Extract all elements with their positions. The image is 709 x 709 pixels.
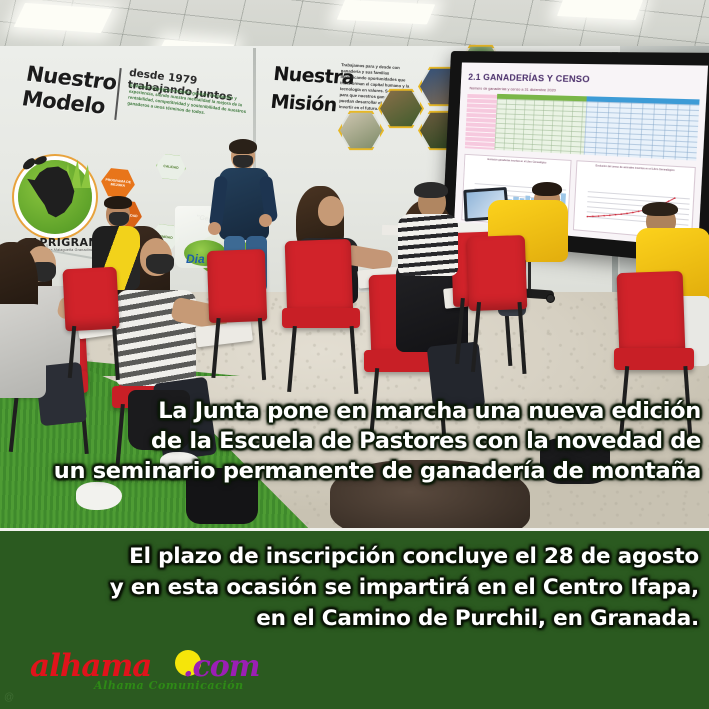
- news-poster: Nuestro Modelo desde 1979 trabajando jun…: [0, 0, 709, 709]
- attendee-torso: [0, 304, 46, 398]
- chair-back: [617, 271, 686, 357]
- presenter-hand-right: [259, 214, 272, 227]
- hex-photo-tile: [378, 88, 424, 129]
- attendee-hair: [104, 196, 132, 209]
- hex-photo-image: [380, 90, 422, 127]
- shoe: [76, 482, 122, 510]
- attendee-hair: [532, 182, 562, 196]
- headline-line-2: de la Escuela de Pastores con la novedad…: [0, 426, 701, 456]
- subheadline-line-2: y en esta ocasión se impartirá en el Cen…: [0, 572, 699, 603]
- at-symbol-mark: @: [4, 692, 14, 703]
- table-row-headers: [465, 93, 497, 150]
- attendee-face-mask: [146, 254, 174, 274]
- headline: La Junta pone en marcha una nueva edició…: [0, 396, 709, 486]
- hex-photo-image: [340, 112, 382, 149]
- slide-title: 2.1 GANADERÍAS Y CENSO: [468, 72, 590, 85]
- subheadline-line-3: en el Camino de Purchil, en Granada.: [0, 603, 699, 634]
- chair-back: [62, 267, 119, 332]
- slide-data-table: [465, 93, 700, 161]
- wall-hex-chip: CALIDAD: [155, 152, 188, 181]
- chair-seat: [282, 308, 360, 328]
- caster-wheel: [546, 294, 555, 303]
- chart-caption: Evolución ganaderías inscritas en el Lib…: [468, 157, 568, 166]
- wall-heading-nuestro-modelo: Nuestro Modelo: [20, 62, 119, 121]
- table-group-ganaderias: [494, 94, 586, 155]
- plastic-bag-text: Dia: [186, 252, 205, 266]
- attendee-face-mask: [109, 212, 129, 226]
- attendee-head: [318, 196, 344, 226]
- chair-back: [207, 249, 267, 323]
- headline-line-3: un seminario permanente de ganadería de …: [0, 456, 701, 486]
- subheadline: El plazo de inscripción concluye el 28 d…: [0, 541, 709, 634]
- hex-photo-tile: [338, 110, 384, 151]
- subheadline-line-1: El plazo de inscripción concluye el 28 d…: [0, 541, 699, 572]
- photo-classroom-scene: Nuestro Modelo desde 1979 trabajando jun…: [0, 0, 709, 528]
- presenter-hand-left: [208, 222, 221, 235]
- table-group-censo: [584, 96, 700, 160]
- presenter-face-mask: [233, 155, 253, 168]
- logo-tagline: Alhama Comunicación: [94, 679, 244, 692]
- chart-caption: Evolución del censo de animales inscrito…: [580, 163, 691, 173]
- attendee-torso-striped: [398, 214, 458, 276]
- alhama-com-logo[interactable]: alhama .com Alhama Comunicación: [30, 648, 260, 694]
- slide-subtitle: Número de ganaderías y censo a 31 diciem…: [469, 85, 556, 92]
- presenter-hair: [229, 139, 257, 154]
- attendee-hair: [414, 182, 448, 198]
- headline-line-1: La Junta pone en marcha una nueva edició…: [0, 396, 701, 426]
- chair-back: [467, 235, 528, 311]
- attendee-hair: [642, 202, 678, 216]
